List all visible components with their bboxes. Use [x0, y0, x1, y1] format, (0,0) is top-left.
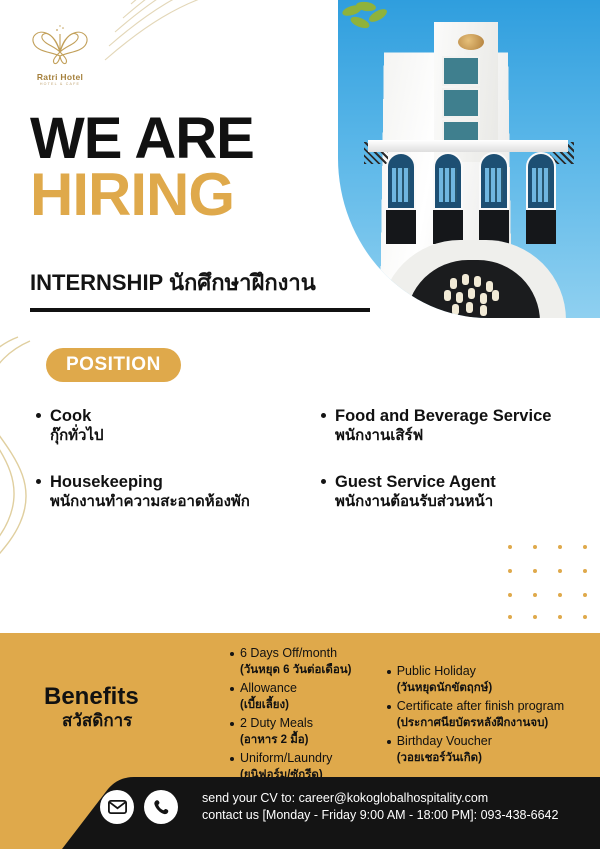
position-subtitle: พนักงานทำความสะอาดห้องพัก: [50, 492, 250, 512]
benefit-text-en: 2 Duty Meals: [240, 715, 313, 732]
bullet-icon: [387, 670, 391, 674]
benefit-text-th: (เบี้ยเลี้ยง): [240, 697, 297, 713]
position-item: Food and Beverage Service พนักงานเสิร์ฟ: [317, 406, 588, 446]
benefit-text-en: Allowance: [240, 680, 297, 697]
position-title: Guest Service Agent: [335, 472, 496, 492]
foliage-decoration: [342, 2, 396, 32]
headline-line-2: HIRING: [30, 166, 254, 224]
benefit-text-en: Uniform/Laundry: [240, 750, 332, 767]
benefit-text-en: Certificate after finish program: [397, 698, 564, 715]
bullet-icon: [230, 757, 234, 761]
window-shutters: [386, 210, 556, 244]
benefits-heading: Benefits สวัสดิการ: [44, 684, 139, 732]
building-cornice: [368, 140, 568, 152]
headline-block: WE ARE HIRING: [30, 112, 254, 224]
benefits-left-column: 6 Days Off/month (วันหยุด 6 วันต่อเดือน)…: [228, 645, 377, 785]
bullet-icon: [387, 740, 391, 744]
butterfly-floral-logo-icon: [24, 22, 96, 66]
benefit-item: Certificate after finish program (ประกาศ…: [385, 698, 598, 731]
benefit-text-en: Birthday Voucher: [397, 733, 492, 750]
position-item: Guest Service Agent พนักงานต้อนรับส่วนหน…: [317, 472, 588, 512]
bullet-icon: [36, 413, 41, 418]
benefit-item: 6 Days Off/month (วันหยุด 6 วันต่อเดือน): [228, 645, 377, 678]
contact-block: send your CV to: career@kokoglobalhospit…: [100, 790, 558, 824]
headline-line-1: WE ARE: [30, 112, 254, 166]
position-title: Food and Beverage Service: [335, 406, 551, 426]
position-title: Housekeeping: [50, 472, 250, 492]
dot-grid-decoration: [508, 545, 598, 625]
benefits-right-column: Public Holiday (วันหยุดนักขัตฤกษ์) Certi…: [377, 645, 598, 785]
bullet-icon: [387, 705, 391, 709]
position-item: Cook กุ๊กทั่วไป: [32, 406, 303, 446]
entrance-portal: [406, 260, 540, 318]
bullet-icon: [321, 413, 326, 418]
position-subtitle: พนักงานเสิร์ฟ: [335, 426, 551, 446]
position-badge: POSITION: [46, 348, 181, 382]
benefit-text-th: (อาหาร 2 มื้อ): [240, 732, 313, 748]
position-subtitle: พนักงานต้อนรับส่วนหน้า: [335, 492, 496, 512]
position-right-column: Food and Beverage Service พนักงานเสิร์ฟ …: [303, 406, 588, 538]
benefits-list: 6 Days Off/month (วันหยุด 6 วันต่อเดือน)…: [228, 645, 598, 785]
building-emblem: [458, 34, 484, 50]
benefit-item: Birthday Voucher (วอยเชอร์วันเกิด): [385, 733, 598, 766]
benefits-heading-th: สวัสดิการ: [44, 710, 139, 732]
position-title: Cook: [50, 406, 104, 426]
brand-name: Ratri Hotel: [24, 72, 96, 82]
benefit-text-th: (วันหยุด 6 วันต่อเดือน): [240, 662, 351, 678]
contact-phone-line: contact us [Monday - Friday 9:00 AM - 18…: [202, 807, 558, 824]
benefit-text-th: (วันหยุดนักขัตฤกษ์): [397, 680, 492, 696]
bullet-icon: [321, 479, 326, 484]
envelope-icon[interactable]: [100, 790, 134, 824]
arched-windows: [386, 152, 556, 210]
benefit-item: Allowance (เบี้ยเลี้ยง): [228, 680, 377, 713]
bullet-icon: [230, 652, 234, 656]
position-list: Cook กุ๊กทั่วไป Housekeeping พนักงานทำคว…: [32, 406, 588, 538]
benefit-text-en: 6 Days Off/month: [240, 645, 351, 662]
headline-divider: [30, 308, 370, 312]
hiring-poster: Ratri Hotel HOTEL & CAFE: [0, 0, 600, 849]
benefit-item: 2 Duty Meals (อาหาร 2 มื้อ): [228, 715, 377, 748]
contact-email-line: send your CV to: career@kokoglobalhospit…: [202, 790, 558, 807]
position-subtitle: กุ๊กทั่วไป: [50, 426, 104, 446]
chandelier: [440, 272, 506, 318]
benefit-item: Public Holiday (วันหยุดนักขัตฤกษ์): [385, 663, 598, 696]
position-left-column: Cook กุ๊กทั่วไป Housekeeping พนักงานทำคว…: [32, 406, 303, 538]
brand-tagline: HOTEL & CAFE: [24, 82, 96, 86]
contact-text: send your CV to: career@kokoglobalhospit…: [202, 790, 558, 824]
benefit-text-th: (ประกาศนียบัตรหลังฝึกงานจบ): [397, 715, 564, 731]
phone-icon[interactable]: [144, 790, 178, 824]
bullet-icon: [36, 479, 41, 484]
brand-logo: Ratri Hotel HOTEL & CAFE: [24, 22, 96, 86]
hotel-building-photo: [338, 0, 600, 318]
bullet-icon: [230, 687, 234, 691]
position-item: Housekeeping พนักงานทำความสะอาดห้องพัก: [32, 472, 303, 512]
benefits-heading-en: Benefits: [44, 684, 139, 710]
benefit-text-en: Public Holiday: [397, 663, 492, 680]
bullet-icon: [230, 722, 234, 726]
headline-subtitle: INTERNSHIP นักศึกษาฝึกงาน: [30, 265, 316, 300]
benefit-text-th: (วอยเชอร์วันเกิด): [397, 750, 492, 766]
